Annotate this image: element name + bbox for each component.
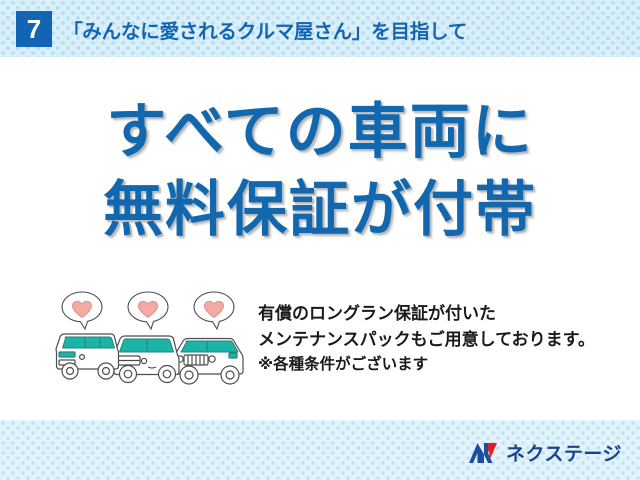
description-block: 有償のロングラン保証が付いた メンテナンスパックもご用意しております。 ※各種条… (258, 301, 630, 377)
heart-bubble-2 (128, 292, 168, 329)
brand-name: ネクステージ (506, 439, 622, 466)
header-row: 7 「みんなに愛されるクルマ屋さん」を目指して (16, 11, 467, 47)
step-number-badge: 7 (16, 11, 52, 47)
heart-bubble-1 (62, 292, 102, 329)
nexstage-n-icon (468, 442, 498, 464)
car-suv (174, 339, 243, 385)
header-title: 「みんなに愛されるクルマ屋さん」を目指して (63, 15, 467, 44)
lower-row: 有償のロングラン保証が付いた メンテナンスパックもご用意しております。 ※各種条… (0, 289, 640, 419)
three-cars-illustration (52, 289, 252, 399)
description-line-1: 有償のロングラン保証が付いた (258, 301, 630, 327)
description-line-2: メンテナンスパックもご用意しております。 (258, 327, 630, 353)
headline-block: すべての車両に 無料保証が付帯 (0, 93, 640, 249)
brand-logo: ネクステージ (468, 439, 622, 466)
promo-slide: 7 「みんなに愛されるクルマ屋さん」を目指して すべての車両に 無料保証が付帯 (0, 0, 640, 480)
headline-line-2: 無料保証が付帯 (0, 171, 640, 249)
headline-line-1: すべての車両に (0, 93, 640, 171)
description-note: ※各種条件がございます (258, 352, 630, 377)
car-kei-wagon (56, 334, 119, 379)
header-band: 7 「みんなに愛されるクルマ屋さん」を目指して (0, 0, 640, 57)
heart-bubble-3 (194, 292, 234, 329)
car-minivan (114, 336, 179, 383)
content-panel: すべての車両に 無料保証が付帯 (0, 57, 640, 420)
